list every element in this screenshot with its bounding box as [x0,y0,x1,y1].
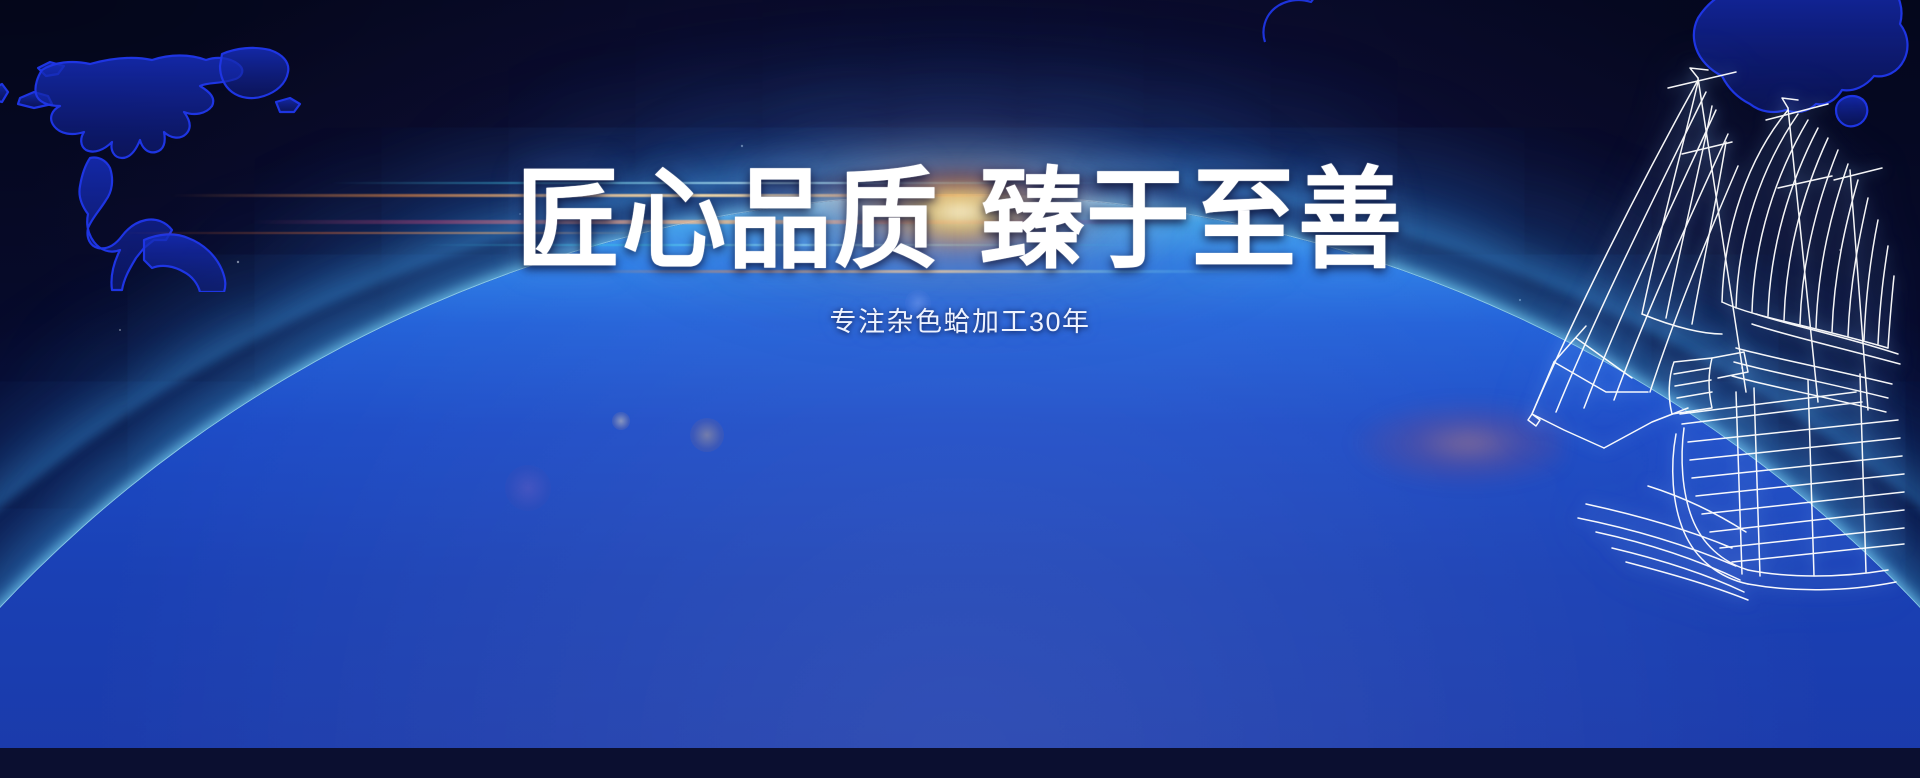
bottom-bar [0,748,1920,778]
hero-banner: 匠心品质臻于至善 专注杂色蛤加工30年 [0,0,1920,778]
